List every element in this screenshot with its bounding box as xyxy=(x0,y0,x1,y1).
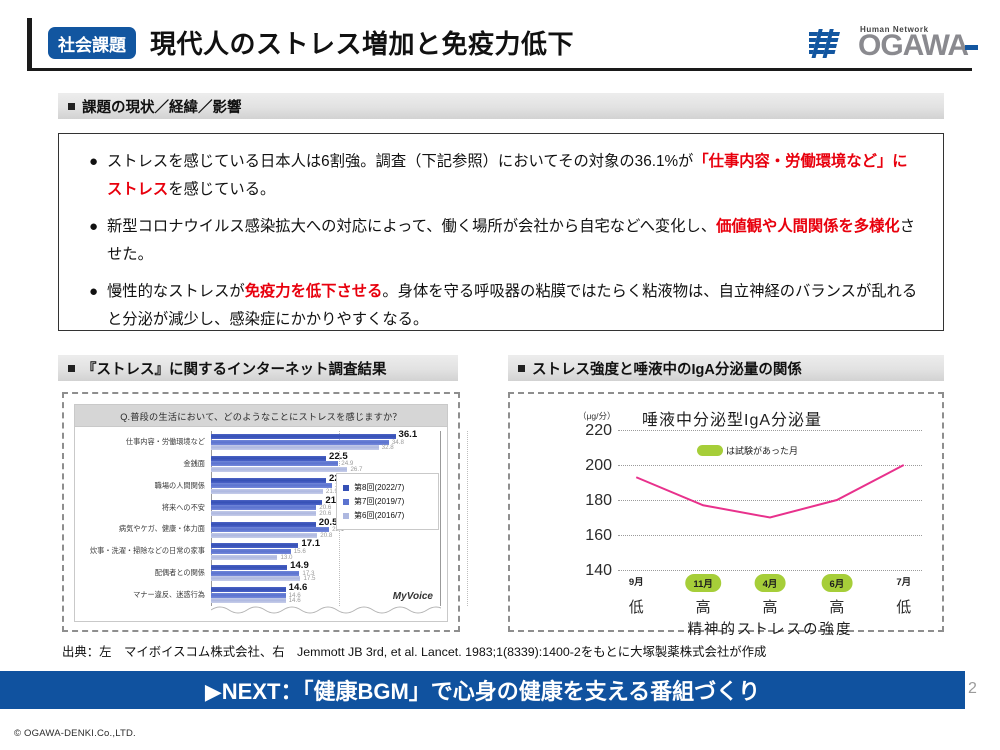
bar xyxy=(211,483,332,488)
x-label-highlighted: 11月 xyxy=(685,574,721,592)
section-header-right-chart-label: ストレス強度と唾液中のIgA分泌量の関係 xyxy=(532,358,802,379)
bar-chart-title: Q.普段の生活において、どのようなことにストレスを感じますか？ xyxy=(75,405,447,427)
bar xyxy=(211,598,286,603)
line-chart-title: 唾液中分泌型IgA分泌量 xyxy=(642,406,822,430)
page-title: 現代人のストレス増加と免疫力低下 xyxy=(150,24,574,61)
bar xyxy=(211,456,326,461)
bar xyxy=(211,533,317,538)
source-citation: 出典：左 マイボイスコム株式会社、右 Jemmott JB 3rd, et al… xyxy=(62,642,952,660)
body-text: ストレスを感じている日本人は6割強。調査（下記参照）においてその対象の36.1%… xyxy=(107,153,693,170)
x-label-highlighted: 4月 xyxy=(755,574,786,592)
legend-swatch-icon xyxy=(343,499,349,505)
legend-label: 第8回(2022/7) xyxy=(354,482,404,493)
bar-chart-legend: 第8回(2022/7) 第7回(2019/7) 第6回(2016/7) xyxy=(336,473,439,530)
bar xyxy=(211,500,322,505)
section-header-left-chart: 『ストレス』に関するインターネット調査結果 xyxy=(58,355,458,381)
bullet-marker-icon: ● xyxy=(81,278,107,334)
x-label-highlighted: 6月 xyxy=(821,574,852,592)
body-text: 慢性的なストレスが xyxy=(107,283,245,300)
overview-text-box: ● ストレスを感じている日本人は6割強。調査（下記参照）においてその対象の36.… xyxy=(58,133,944,331)
iga-line-chart: （μg/分） 唾液中分泌型IgA分泌量 は試験があった月 14016018020… xyxy=(522,402,930,622)
bar-value-label: 20.8 xyxy=(320,533,332,539)
line-chart-unit-label: （μg/分） xyxy=(578,410,616,422)
bar xyxy=(211,543,298,548)
x-label: 9月 xyxy=(629,574,644,588)
next-section-label: ▶NEXT：「健康BGM」で心身の健康を支える番組づくり xyxy=(205,674,760,706)
bar xyxy=(211,511,316,516)
bullet-marker-icon: ● xyxy=(81,148,107,204)
bar xyxy=(211,555,277,560)
logo-dash-icon xyxy=(965,45,978,50)
page-number: 2 xyxy=(968,680,977,698)
header-category-badge: 社会課題 xyxy=(48,27,136,59)
y-axis-tick-label: 200 xyxy=(585,457,612,475)
line-chart-x-levels: 低高高高低 xyxy=(618,596,922,616)
emphasis-text: 免疫力を低下させる xyxy=(245,283,383,300)
stress-level-label: 低 xyxy=(629,596,644,617)
bar xyxy=(211,593,286,598)
slide-root: 社会課題 現代人のストレス増加と免疫力低下 xyxy=(0,0,1000,750)
ogawa-logo: Human Network OGAWA xyxy=(809,22,978,60)
stress-level-label: 高 xyxy=(696,596,711,617)
legend-item: 第7回(2019/7) xyxy=(343,496,432,507)
stress-level-label: 高 xyxy=(829,596,844,617)
stress-level-label: 低 xyxy=(896,596,911,617)
bar-category-label: 炊事・洗濯・掃除などの日常の家事 xyxy=(90,547,205,554)
bar-category-label: 金銭面 xyxy=(183,460,205,467)
next-section-banner: ▶NEXT：「健康BGM」で心身の健康を支える番組づくり xyxy=(0,671,965,709)
line-chart-plot-area: 140160180200220 xyxy=(618,430,922,570)
axis-break-wave-icon xyxy=(211,604,441,614)
chart-watermark: MyVoice xyxy=(393,591,433,602)
bullet-item: ● ストレスを感じている日本人は6割強。調査（下記参照）においてその対象の36.… xyxy=(81,148,921,204)
bar-value-label: 15.6 xyxy=(294,549,306,555)
y-axis-tick-label: 140 xyxy=(585,562,612,580)
bullet-text: 新型コロナウイルス感染拡大への対応によって、働く場所が会社から自宅などへ変化し、… xyxy=(107,213,921,269)
right-chart-panel: （μg/分） 唾液中分泌型IgA分泌量 は試験があった月 14016018020… xyxy=(508,392,944,632)
bar-group: 仕事内容・労働環境など36.134.832.8 xyxy=(211,431,441,453)
bar-category-label: 病気やケガ、健康・体力面 xyxy=(119,525,205,532)
bar-group: 金銭面22.524.926.7 xyxy=(211,453,441,475)
legend-swatch-icon xyxy=(343,485,349,491)
bar xyxy=(211,478,326,483)
line-chart-x-axis-title: 精神的ストレスの強度 xyxy=(618,618,922,639)
bullet-item: ● 慢性的なストレスが免疫力を低下させる。身体を守る呼吸器の粘膜ではたらく粘液物… xyxy=(81,278,921,334)
copyright-notice: © OGAWA-DENKI.Co.,LTD. xyxy=(14,728,136,739)
y-axis-tick-label: 180 xyxy=(585,492,612,510)
legend-label: 第7回(2019/7) xyxy=(354,496,404,507)
bar xyxy=(211,522,316,527)
bar xyxy=(211,527,329,532)
header-accent-bar xyxy=(27,18,32,70)
left-chart-panel: Q.普段の生活において、どのようなことにストレスを感じますか？ 仕事内容・労働環… xyxy=(62,392,460,632)
bar xyxy=(211,565,287,570)
legend-swatch-icon xyxy=(343,513,349,519)
emphasis-text: 価値観や人間関係を多様化 xyxy=(716,218,900,235)
bar xyxy=(211,571,299,576)
bar-value-label: 32.8 xyxy=(382,445,394,451)
bullet-text: 慢性的なストレスが免疫力を低下させる。身体を守る呼吸器の粘膜ではたらく粘液物は、… xyxy=(107,278,921,334)
hash-grid-logo-mark-icon xyxy=(809,28,853,60)
body-text: を感じている。 xyxy=(168,181,275,198)
section-header-overview: 課題の現状／経緯／影響 xyxy=(58,93,944,119)
legend-item: 第8回(2022/7) xyxy=(343,482,432,493)
bar xyxy=(211,587,286,592)
y-axis-tick-label: 220 xyxy=(585,422,612,440)
bullet-square-icon xyxy=(518,365,525,372)
bar-category-label: マナー違反、迷惑行為 xyxy=(133,591,205,598)
bar-category-label: 配偶者との関係 xyxy=(155,569,205,576)
legend-label: 第6回(2016/7) xyxy=(354,510,404,521)
bar-category-label: 仕事内容・労働環境など xyxy=(126,438,205,445)
slide-header: 社会課題 現代人のストレス増加と免疫力低下 xyxy=(0,0,1000,82)
grid-line: 140 xyxy=(618,570,922,571)
logo-wordmark: OGAWA xyxy=(858,29,968,62)
bullet-square-icon xyxy=(68,103,75,110)
line-series-path xyxy=(618,430,922,570)
bullet-square-icon xyxy=(68,365,75,372)
grid-line xyxy=(467,431,468,606)
bar xyxy=(211,489,323,494)
bar xyxy=(211,461,338,466)
bar xyxy=(211,576,300,581)
y-axis-tick-label: 160 xyxy=(585,527,612,545)
bar xyxy=(211,505,316,510)
bar-category-label: 職場の人間関係 xyxy=(155,482,205,489)
bar-group: 炊事・洗濯・掃除などの日常の家事17.115.613.0 xyxy=(211,540,441,562)
body-text: 新型コロナウイルス感染拡大への対応によって、働く場所が会社から自宅などへ変化し、 xyxy=(107,218,716,235)
bar xyxy=(211,440,389,445)
bullet-marker-icon: ● xyxy=(81,213,107,269)
bar xyxy=(211,549,291,554)
bar xyxy=(211,467,347,472)
stress-level-label: 高 xyxy=(762,596,777,617)
section-header-left-chart-label: 『ストレス』に関するインターネット調査結果 xyxy=(82,358,387,379)
bar xyxy=(211,434,396,439)
bullet-text: ストレスを感じている日本人は6割強。調査（下記参照）においてその対象の36.1%… xyxy=(107,148,921,204)
section-header-overview-label: 課題の現状／経緯／影響 xyxy=(82,96,242,117)
bar-group: 配偶者との関係14.917.317.5 xyxy=(211,562,441,584)
bar-category-label: 将来への不安 xyxy=(162,504,205,511)
bar-chart-body: 仕事内容・労働環境など36.134.832.8金銭面22.524.926.7職場… xyxy=(75,427,447,622)
x-label: 7月 xyxy=(896,574,911,588)
legend-item: 第6回(2016/7) xyxy=(343,510,432,521)
section-header-right-chart: ストレス強度と唾液中のIgA分泌量の関係 xyxy=(508,355,944,381)
line-chart-x-labels: 9月11月4月6月7月 xyxy=(618,574,922,592)
bullet-item: ● 新型コロナウイルス感染拡大への対応によって、働く場所が会社から自宅などへ変化… xyxy=(81,213,921,269)
stress-survey-bar-chart: Q.普段の生活において、どのようなことにストレスを感じますか？ 仕事内容・労働環… xyxy=(74,404,448,622)
bar xyxy=(211,445,379,450)
header-underline xyxy=(27,68,972,71)
